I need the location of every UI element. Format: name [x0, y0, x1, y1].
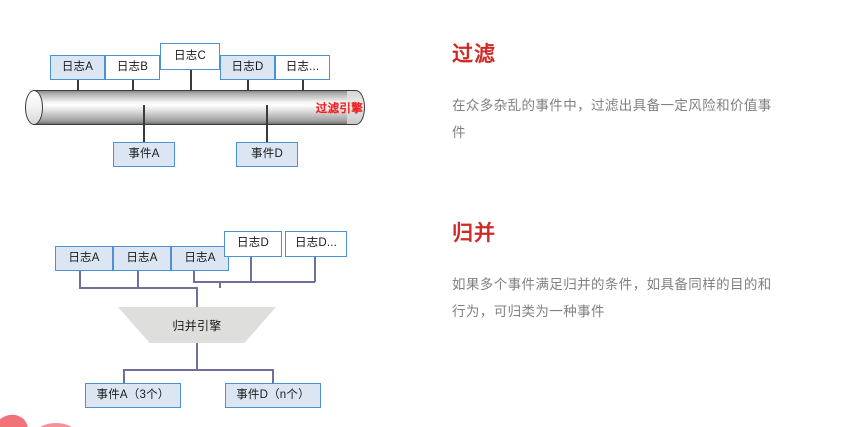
- corner-blob-shape: [0, 410, 32, 427]
- merge-log-box-d[interactable]: 日志D: [224, 231, 282, 257]
- merge-connector-d: [250, 257, 252, 282]
- merge-output-right: [272, 369, 274, 383]
- section-merge: 归并 如果多个事件满足归并的条件，如具备同样的目的和行为，可归类为一种事件: [452, 217, 782, 325]
- filter-engine-label: 过滤引擎: [316, 100, 363, 116]
- event-box-a[interactable]: 事件A: [113, 142, 175, 167]
- section-filter: 过滤 在众多杂乱的事件中，过滤出具备一定风险和价值事件: [452, 38, 782, 146]
- corner-decoration: [0, 399, 110, 427]
- slide-canvas: 日志A 日志B 日志C 日志D 日志... 过滤引擎 事件A 事件D 日志A 日…: [0, 0, 864, 427]
- section-filter-heading: 过滤: [452, 38, 782, 68]
- merge-event-box-d[interactable]: 事件D（n个）: [225, 383, 321, 408]
- merge-log-box-a2[interactable]: 日志A: [113, 246, 171, 271]
- log-box-d[interactable]: 日志D: [220, 55, 275, 80]
- section-filter-body: 在众多杂乱的事件中，过滤出具备一定风险和价值事件: [452, 92, 782, 146]
- merge-log-box-a3[interactable]: 日志A: [171, 246, 229, 271]
- cylinder-left-cap: [25, 90, 43, 125]
- merge-output-left: [123, 369, 125, 383]
- merge-connector-a2: [137, 271, 139, 287]
- log-box-a[interactable]: 日志A: [50, 55, 105, 80]
- section-merge-body: 如果多个事件满足归并的条件，如具备同样的目的和行为，可归类为一种事件: [452, 271, 782, 325]
- cylinder-body: [34, 90, 356, 125]
- merge-engine-trapezoid: 归并引擎: [118, 307, 276, 343]
- corner-blob-shape-secondary: [34, 423, 78, 427]
- merge-trunk: [196, 287, 198, 307]
- merge-output-trunk: [196, 343, 198, 369]
- merge-jog-a3: [193, 281, 220, 283]
- connector-event-a: [143, 105, 145, 142]
- log-box-c[interactable]: 日志C: [160, 43, 220, 70]
- merge-log-box-dmore[interactable]: 日志D...: [285, 231, 347, 257]
- log-box-b[interactable]: 日志B: [105, 55, 160, 80]
- merge-connector-a3: [193, 271, 195, 281]
- connector-event-d: [266, 105, 268, 142]
- merge-log-box-a1[interactable]: 日志A: [55, 246, 113, 271]
- merge-busbar-left: [79, 287, 196, 289]
- section-merge-heading: 归并: [452, 217, 782, 247]
- merge-connector-dmore: [314, 257, 316, 282]
- merge-busbar-right: [219, 281, 315, 283]
- merge-connector-a1: [79, 271, 81, 287]
- log-box-more[interactable]: 日志...: [275, 55, 330, 80]
- merge-output-busbar: [123, 369, 273, 371]
- filter-engine-cylinder: 过滤引擎: [25, 90, 365, 125]
- event-box-d[interactable]: 事件D: [236, 142, 298, 167]
